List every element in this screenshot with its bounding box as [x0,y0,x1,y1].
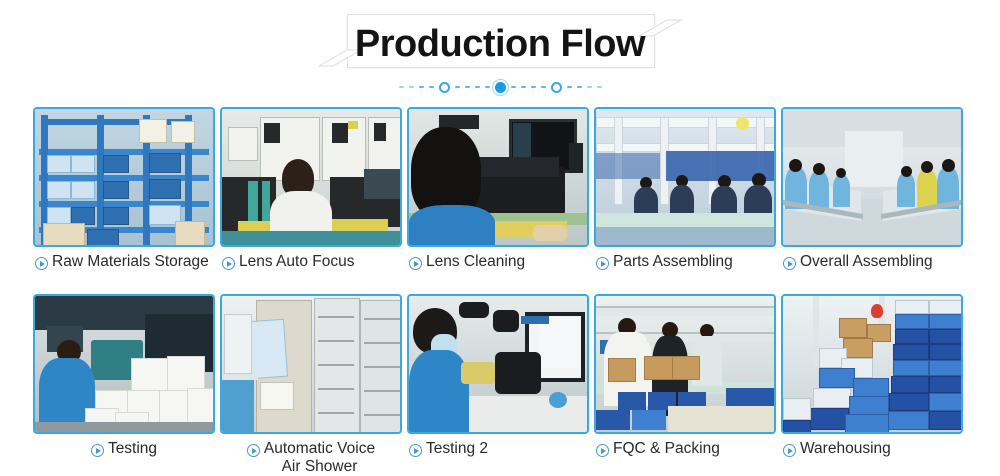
step-label: FQC & Packing [613,440,720,458]
step-label: Testing 2 [426,440,488,458]
dash [455,86,460,88]
step-lens-cleaning[interactable]: Lens Cleaning [407,107,589,287]
step-photo [33,107,215,247]
play-circle-icon [409,444,422,457]
dash [521,86,526,88]
play-circle-icon [596,257,609,270]
dash [409,86,414,88]
step-photo [781,107,963,247]
step-label: Overall Assembling [800,253,933,271]
dot-ring-left-icon [439,82,450,93]
dash [511,86,516,88]
dash [485,86,490,88]
step-fqc-and-packing[interactable]: FQC & Packing [594,294,776,474]
step-caption: Overall Assembling [781,252,963,287]
play-circle-icon [222,257,235,270]
step-label: Lens Auto Focus [239,253,354,271]
step-label: Automatic Voice Air Shower [264,440,375,476]
dash [577,86,582,88]
play-circle-icon [783,444,796,457]
dash [587,86,592,88]
step-photo [407,107,589,247]
play-circle-icon [91,444,104,457]
step-photo [781,294,963,434]
step-lens-auto-focus[interactable]: Lens Auto Focus [220,107,402,287]
step-photo [594,294,776,434]
dash [399,86,404,88]
dot-ring-right-icon [551,82,562,93]
step-label: Lens Cleaning [426,253,525,271]
step-photo [594,107,776,247]
dash [541,86,546,88]
step-caption: Lens Cleaning [407,252,589,287]
step-photo [33,294,215,434]
step-caption: Raw Materials Storage [33,252,215,287]
play-circle-icon [247,444,260,457]
dash [429,86,434,88]
dash [531,86,536,88]
step-label: Testing [108,440,157,458]
dash [419,86,424,88]
play-circle-icon [596,444,609,457]
play-circle-icon [783,257,796,270]
page-header: Production Flow [0,8,1000,70]
step-caption: Lens Auto Focus [220,252,402,287]
step-label: Warehousing [800,440,891,458]
page-title: Production Flow [0,22,1000,66]
step-photo [407,294,589,434]
step-testing[interactable]: Testing [33,294,215,474]
step-raw-materials-storage[interactable]: Raw Materials Storage [33,107,215,287]
dash [465,86,470,88]
play-circle-icon [35,257,48,270]
step-photo [220,294,402,434]
step-label: Parts Assembling [613,253,733,271]
step-warehousing[interactable]: Warehousing [781,294,963,474]
step-automatic-voice-air-shower[interactable]: Automatic Voice Air Shower [220,294,402,474]
step-caption: Parts Assembling [594,252,776,287]
step-overall-assembling[interactable]: Overall Assembling [781,107,963,287]
dash [475,86,480,88]
dot-filled-center-icon [495,82,506,93]
dash [597,86,602,88]
step-parts-assembling[interactable]: Parts Assembling [594,107,776,287]
dash [567,86,572,88]
step-photo [220,107,402,247]
step-testing-2[interactable]: Testing 2 [407,294,589,474]
decorative-dot-separator [0,78,1000,96]
step-label: Raw Materials Storage [52,253,209,271]
play-circle-icon [409,257,422,270]
production-flow-grid: Raw Materials Storage [33,107,967,474]
